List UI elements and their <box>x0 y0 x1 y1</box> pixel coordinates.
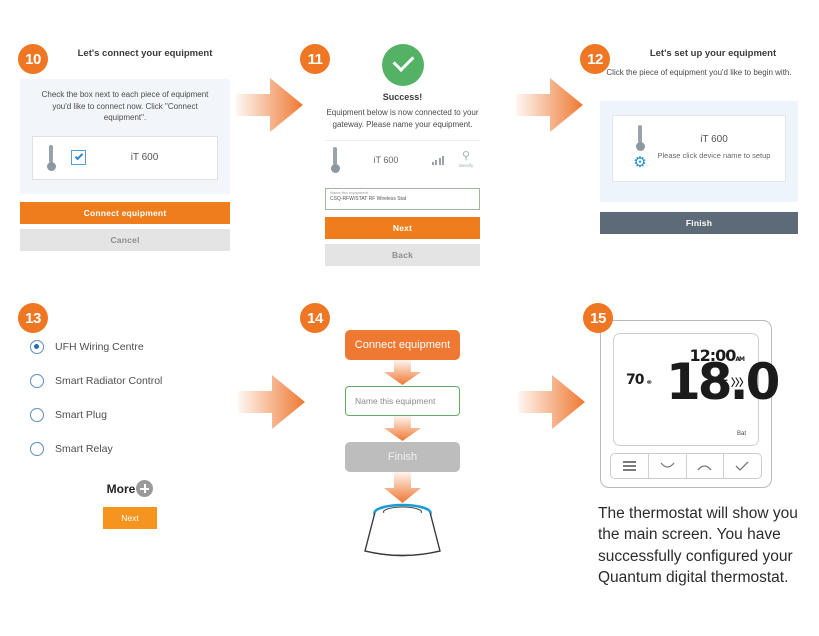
step-10-panel: Let's connect your equipment Check the b… <box>20 48 230 251</box>
flow-arrow-11-to-12 <box>516 76 584 134</box>
name-equipment-input[interactable]: Name this equipment CSQ-RFW/STAT RF Wire… <box>325 188 480 210</box>
radio-icon[interactable] <box>30 442 44 456</box>
finish-button[interactable]: Finish <box>600 212 798 234</box>
identify-label: Identify <box>454 163 478 168</box>
success-title: Success! <box>325 92 480 102</box>
heating-active-icon: 〉〉〉 <box>731 374 748 389</box>
humidity-drop-icon: ⚭ <box>645 377 653 388</box>
radio-option-smart-relay[interactable]: Smart Relay <box>30 432 230 466</box>
step-12-heading: Let's set up your equipment <box>600 48 798 59</box>
device-setup-hint: Please click device name to setup <box>655 151 773 161</box>
step-11-message: Equipment below is now connected to your… <box>325 107 480 130</box>
more-button[interactable]: More <box>30 480 230 497</box>
step-12-device-block: ⚙ iT 600 Please click device name to set… <box>600 101 798 202</box>
cancel-button[interactable]: Cancel <box>20 229 230 251</box>
thermostat-lcd: 70 ⚭ 12:00AM 18.0 °C 〉〉〉 Bat <box>613 333 759 446</box>
thermostat-button-row <box>610 453 762 479</box>
humidity-reading: 70 ⚭ <box>626 372 653 388</box>
step-10-instruction-block: Check the box next to each piece of equi… <box>20 79 230 194</box>
tutorial-page: 10 Let's connect your equipment Check th… <box>0 0 819 636</box>
step-10-heading: Let's connect your equipment <box>20 48 230 59</box>
step-badge-13: 13 <box>18 303 48 333</box>
connect-equipment-button[interactable]: Connect equipment <box>20 202 230 224</box>
gear-icon[interactable]: ⚙ <box>633 155 646 170</box>
flow-arrow-down-1 <box>345 360 460 386</box>
thermostat-device: 70 ⚭ 12:00AM 18.0 °C 〉〉〉 Bat <box>600 320 772 488</box>
flow-arrow-10-to-11 <box>236 76 304 134</box>
radio-label: UFH Wiring Centre <box>55 341 144 353</box>
device-row-it600[interactable]: iT 600 ⚲ Identify <box>325 140 480 178</box>
radio-option-smart-radiator-control[interactable]: Smart Radiator Control <box>30 364 230 398</box>
step-15-caption: The thermostat will show you the main sc… <box>598 503 814 589</box>
device-name: iT 600 <box>655 134 773 145</box>
name-equipment-placeholder: Name this equipment <box>355 396 435 406</box>
step-15-panel: 70 ⚭ 12:00AM 18.0 °C 〉〉〉 Bat <box>600 320 772 488</box>
next-button[interactable]: Next <box>103 507 157 529</box>
step-12-instructions: Click the piece of equipment you'd like … <box>600 67 798 79</box>
name-equipment-input[interactable]: Name this equipment <box>345 386 460 416</box>
gateway-device-illustration <box>345 502 460 565</box>
device-name: iT 600 <box>340 155 432 165</box>
check-icon[interactable] <box>724 454 761 478</box>
step-13-panel: UFH Wiring Centre Smart Radiator Control… <box>30 330 230 529</box>
plus-icon[interactable] <box>136 480 153 497</box>
temperature-unit: °C <box>717 374 728 384</box>
menu-icon[interactable] <box>611 454 649 478</box>
step-badge-14: 14 <box>300 303 330 333</box>
step-14-panel: Connect equipment Name this equipment <box>345 330 460 565</box>
step-11-buttons: Next Back <box>325 217 480 266</box>
step-11-panel: Success! Equipment below is now connecte… <box>325 44 480 266</box>
identify-action[interactable]: ⚲ Identify <box>454 151 478 168</box>
battery-icon: Bat <box>737 431 746 437</box>
radio-icon[interactable] <box>30 374 44 388</box>
back-button[interactable]: Back <box>325 244 480 266</box>
flow-arrow-13-to-14 <box>238 373 306 431</box>
device-row-it600[interactable]: iT 600 <box>32 136 218 180</box>
flow-arrow-down-3 <box>345 472 460 504</box>
signal-bars-icon <box>432 155 444 165</box>
radio-option-ufh-wiring-centre[interactable]: UFH Wiring Centre <box>30 330 230 364</box>
chevron-up-icon[interactable] <box>687 454 725 478</box>
success-check-icon <box>382 44 424 86</box>
radio-label: Smart Radiator Control <box>55 375 162 387</box>
identify-icon: ⚲ <box>454 151 478 162</box>
step-10-buttons: Connect equipment Cancel <box>20 202 230 251</box>
more-label: More <box>107 482 136 496</box>
next-button[interactable]: Next <box>325 217 480 239</box>
thermometer-icon <box>636 125 645 151</box>
device-card-icons: ⚙ <box>625 125 655 170</box>
radio-icon[interactable] <box>30 408 44 422</box>
step-12-panel: Let's set up your equipment Click the pi… <box>600 48 798 234</box>
radio-option-smart-plug[interactable]: Smart Plug <box>30 398 230 432</box>
radio-icon[interactable] <box>30 340 44 354</box>
name-equipment-value: CSQ-RFW/STAT RF Wireless Stat <box>330 196 475 203</box>
finish-button[interactable]: Finish <box>345 442 460 472</box>
flow-arrow-down-2 <box>345 416 460 442</box>
flow-arrow-14-to-15 <box>518 373 586 431</box>
step-badge-12: 12 <box>580 44 610 74</box>
step-badge-15: 15 <box>583 303 613 333</box>
humidity-value: 70 <box>626 372 643 388</box>
step-badge-10: 10 <box>18 44 48 74</box>
device-checkbox[interactable] <box>71 150 86 165</box>
thermometer-icon <box>47 145 56 171</box>
chevron-down-icon[interactable] <box>649 454 687 478</box>
radio-label: Smart Relay <box>55 443 113 455</box>
device-name: iT 600 <box>86 152 203 163</box>
radio-label: Smart Plug <box>55 409 107 421</box>
step-10-instructions: Check the box next to each piece of equi… <box>32 89 218 124</box>
device-card-it600[interactable]: ⚙ iT 600 Please click device name to set… <box>612 115 786 182</box>
thermometer-icon <box>331 147 340 173</box>
step-badge-11: 11 <box>300 44 330 74</box>
connect-equipment-button[interactable]: Connect equipment <box>345 330 460 360</box>
